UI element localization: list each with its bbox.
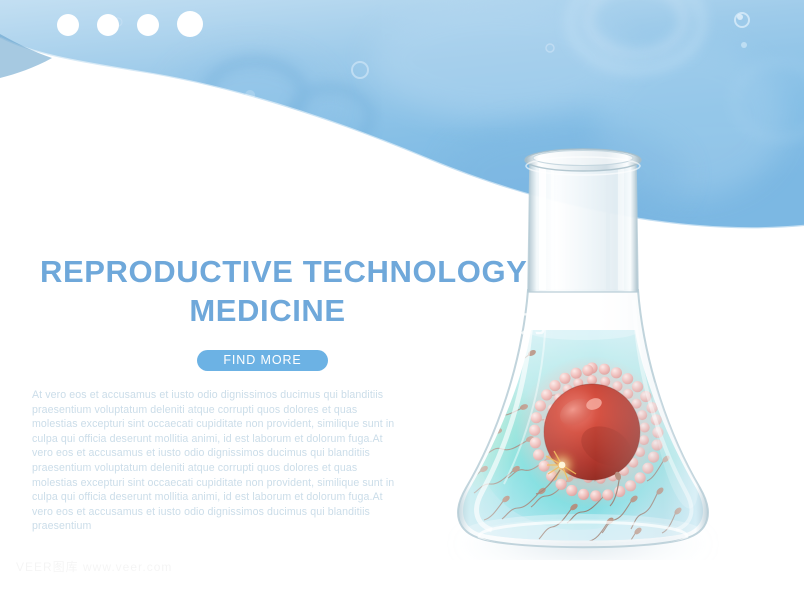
find-more-button[interactable]: FIND MORE — [197, 350, 328, 371]
headline-line-1: REPRODUCTIVE TECHNOLOGY — [40, 254, 527, 289]
erlenmeyer-flask-illustration — [418, 140, 748, 560]
decorative-dot-4 — [177, 11, 203, 37]
decorative-dot-1 — [57, 14, 79, 36]
stock-watermark: VEER图库 www.veer.com — [16, 558, 172, 575]
banner-root: REPRODUCTIVE TECHNOLOGY MEDICINE FIND MO… — [0, 0, 804, 590]
center-watermark: 公力 — [487, 297, 551, 341]
page-title: REPRODUCTIVE TECHNOLOGY MEDICINE — [40, 252, 495, 330]
decorative-dot-3 — [137, 14, 159, 36]
body-paragraph: At vero eos et accusamus et iusto odio d… — [32, 388, 404, 534]
headline-line-2: MEDICINE — [40, 291, 495, 330]
wave-fold-left — [0, 34, 52, 78]
decorative-dot-2 — [97, 14, 119, 36]
flask-neck — [525, 149, 641, 292]
